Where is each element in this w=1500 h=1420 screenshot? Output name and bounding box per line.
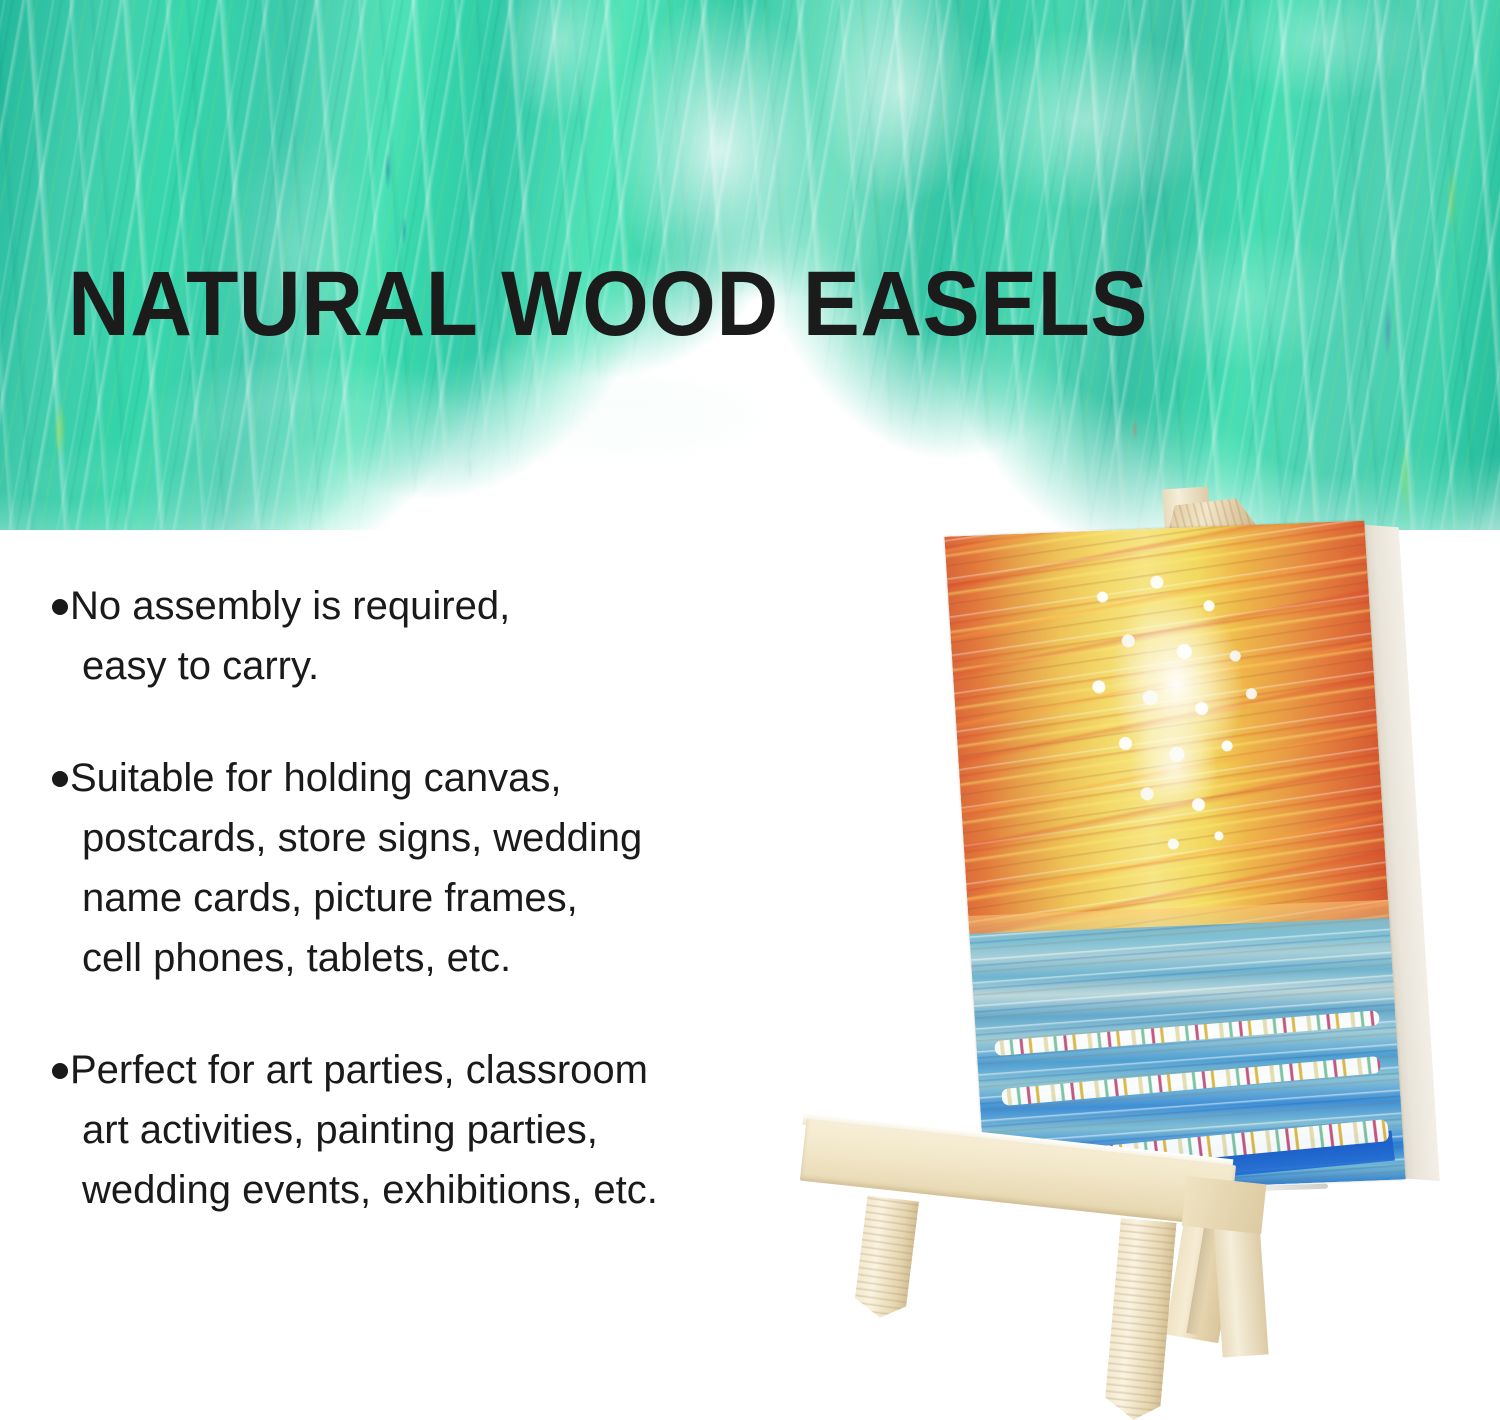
bullet-text: Suitable for holding canvas, (70, 756, 561, 800)
canvas-painting (944, 521, 1405, 1196)
bullet-line: No assembly is required, (52, 576, 832, 636)
page-title: NATURAL WOOD EASELS (68, 258, 1148, 350)
natural-wood-easel-photo (780, 480, 1500, 1420)
easel-front-leg-left-grain (853, 1195, 919, 1320)
list-item: Suitable for holding canvas, postcards, … (52, 748, 832, 988)
bullet-line: name cards, picture frames, (52, 868, 832, 928)
easel-ledge-joint (1182, 1176, 1267, 1234)
painting-sun-impasto (1054, 552, 1304, 880)
bullet-text: No assembly is required, (70, 584, 510, 628)
bullet-dot-icon (52, 771, 68, 787)
canvas-front-face (944, 521, 1405, 1196)
list-item: Perfect for art parties, classroom art a… (52, 1040, 832, 1220)
easel-front-leg-right-grain (1103, 1218, 1176, 1420)
list-item: No assembly is required, easy to carry. (52, 576, 832, 696)
bullet-dot-icon (52, 1063, 68, 1079)
bullet-text: Perfect for art parties, classroom (70, 1048, 648, 1092)
product-feature-graphic: NATURAL WOOD EASELS No assembly is requi… (0, 0, 1500, 1420)
bullet-line: art activities, painting parties, (52, 1100, 832, 1160)
bullet-line: wedding events, exhibitions, etc. (52, 1160, 832, 1220)
bullet-line: cell phones, tablets, etc. (52, 928, 832, 988)
bullet-dot-icon (52, 599, 68, 615)
bullet-line: Suitable for holding canvas, (52, 748, 832, 808)
feature-bullet-list: No assembly is required, easy to carry. … (52, 576, 832, 1272)
bullet-line: easy to carry. (52, 636, 832, 696)
bullet-line: postcards, store signs, wedding (52, 808, 832, 868)
bullet-line: Perfect for art parties, classroom (52, 1040, 832, 1100)
